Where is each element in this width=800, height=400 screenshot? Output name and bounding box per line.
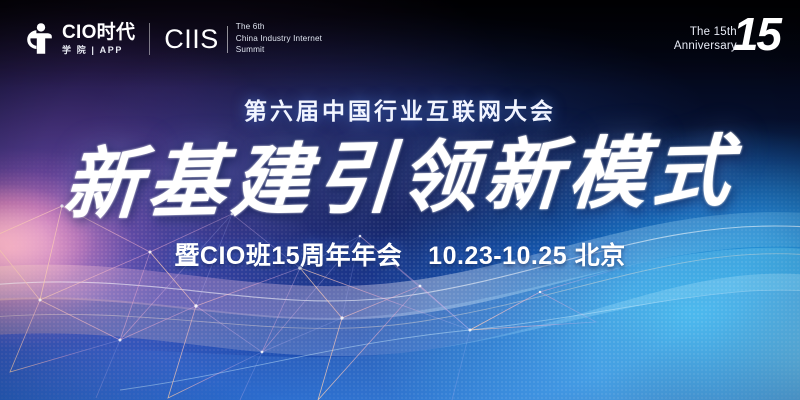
ciis-wordmark: CIIS <box>164 26 219 53</box>
event-city: 北京 <box>575 242 626 270</box>
anniversary-line-2: Anniversary <box>674 39 737 53</box>
ciis-tagline-line-3: Summit <box>236 45 322 56</box>
headline-slogan: 新基建引领新模式 <box>61 131 740 227</box>
anniversary-number: 15 <box>733 16 780 54</box>
anniversary-text: The 15th Anniversary <box>674 25 737 54</box>
ciis-logo: CIIS The 6th China Industry Internet Sum… <box>164 22 322 56</box>
cio-person-icon <box>26 22 56 56</box>
ciis-tagline: The 6th China Industry Internet Summit <box>236 22 322 56</box>
banner-content: CIO时代 学 院 | APP CIIS The 6th China Indus… <box>0 0 800 400</box>
event-name: 第六届中国行业互联网大会 <box>244 92 556 126</box>
event-date: 10.23-10.25 <box>428 242 567 270</box>
ciis-tagline-line-1: The 6th <box>236 22 322 33</box>
logo-divider <box>149 23 150 55</box>
event-date-city: 10.23-10.25 北京 <box>428 236 625 272</box>
cio-wordmark: CIO时代 学 院 | APP <box>62 23 135 55</box>
anniversary-badge: The 15th Anniversary 15 <box>674 24 780 54</box>
subtitle-row: 暨CIO班15周年年会 10.23-10.25 北京 <box>174 236 625 272</box>
logo-lockup: CIO时代 学 院 | APP CIIS The 6th China Indus… <box>26 22 322 56</box>
conference-banner: CIO时代 学 院 | APP CIIS The 6th China Indus… <box>0 0 800 400</box>
main-text-stack: 第六届中国行业互联网大会 新基建引领新模式 暨CIO班15周年年会 10.23-… <box>0 92 800 272</box>
cio-logo-secondary: 学 院 | APP <box>62 46 135 55</box>
cio-logo-primary: CIO时代 <box>62 23 135 42</box>
anniversary-line-1: The 15th <box>690 25 737 39</box>
cio-logo: CIO时代 学 院 | APP <box>26 22 135 56</box>
ciis-tagline-line-2: China Industry Internet <box>236 34 322 45</box>
subtitle-text: 暨CIO班15周年年会 <box>174 236 402 272</box>
ciis-rule <box>227 26 228 53</box>
